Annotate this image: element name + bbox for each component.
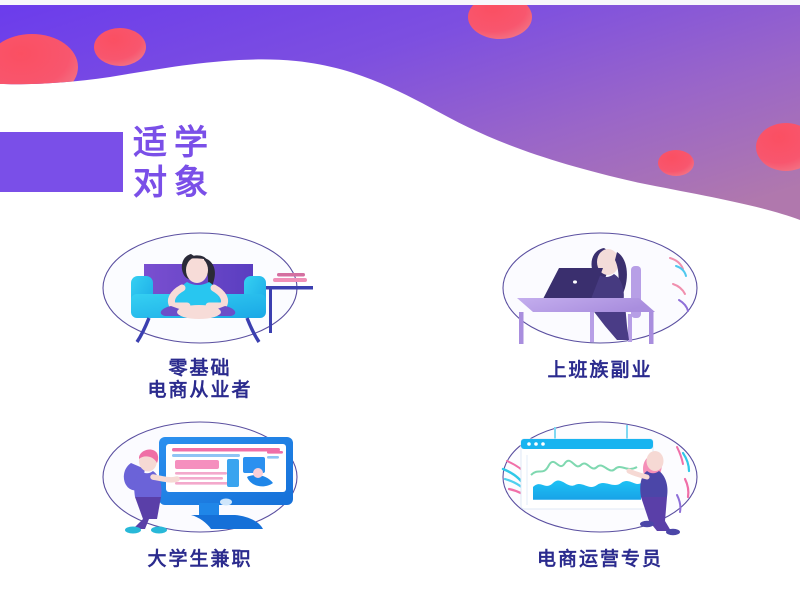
audience-card-label: 零基础 电商从业者	[147, 358, 252, 402]
head	[186, 257, 208, 283]
audience-card-label: 上班族副业	[547, 360, 652, 382]
audience-card-grid: 零基础 电商从业者	[0, 222, 800, 600]
illustration-student-and-monitor	[87, 417, 313, 545]
audience-card-university-student-part-time[interactable]: 大学生兼职	[0, 411, 400, 600]
audience-card-label: 电商运营专员	[537, 549, 663, 571]
shoe-back	[125, 527, 141, 534]
page-title: 适学 对象	[133, 123, 363, 203]
audience-card-zero-basis-ecommerce[interactable]: 零基础 电商从业者	[0, 222, 400, 411]
hands	[177, 305, 221, 319]
audience-card-ecommerce-operations-specialist[interactable]: 电商运营专员	[400, 411, 800, 600]
decor-dot-4	[658, 150, 694, 176]
page-title-line-1: 适学	[133, 123, 363, 163]
shoe-front	[666, 529, 680, 535]
poster-canvas: 适学 对象	[0, 0, 800, 600]
shoe-back	[640, 521, 654, 527]
head	[647, 451, 664, 471]
heading-accent-block	[0, 132, 123, 192]
audience-card-label: 大学生兼职	[147, 549, 252, 571]
shoe-front	[151, 527, 167, 534]
illustration-woman-at-desk	[487, 228, 713, 356]
illustration-analytics-dashboard	[487, 417, 713, 545]
illustration-woman-on-sofa	[87, 228, 313, 356]
arm	[153, 477, 177, 480]
page-title-line-2: 对象	[133, 163, 363, 203]
audience-card-office-worker-side-job[interactable]: 上班族副业	[400, 222, 800, 411]
decor-dot-2	[94, 28, 146, 66]
